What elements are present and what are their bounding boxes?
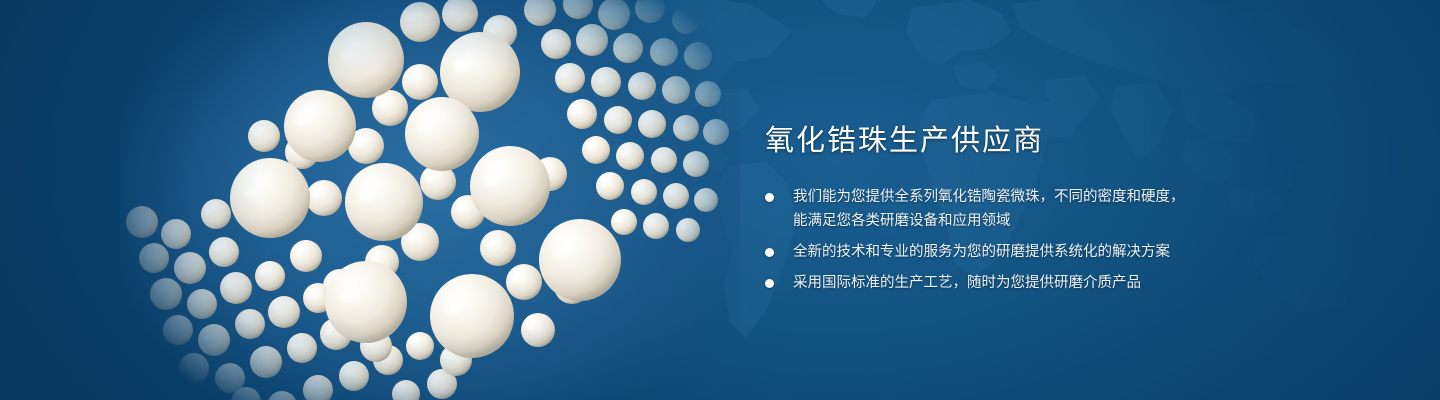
- bullet-dot-icon: [765, 193, 774, 202]
- list-item: 我们能为您提供全系列氧化锆陶瓷微珠，不同的密度和硬度， 能满足您各类研磨设备和应…: [765, 185, 1405, 233]
- feature-list: 我们能为您提供全系列氧化锆陶瓷微珠，不同的密度和硬度， 能满足您各类研磨设备和应…: [765, 185, 1405, 295]
- banner-copy: 氧化锆珠生产供应商 我们能为您提供全系列氧化锆陶瓷微珠，不同的密度和硬度， 能满…: [765, 104, 1405, 302]
- list-item-line-1: 全新的技术和专业的服务为您的研磨提供系统化的解决方案: [793, 244, 1170, 260]
- list-item: 全新的技术和专业的服务为您的研磨提供系统化的解决方案: [765, 240, 1405, 264]
- zirconia-beads-photo: [120, 0, 740, 400]
- bullet-dot-icon: [765, 248, 774, 257]
- bullet-dot-icon: [765, 279, 774, 288]
- list-item: 采用国际标准的生产工艺，随时为您提供研磨介质产品: [765, 271, 1405, 295]
- page-title: 氧化锆珠生产供应商: [765, 123, 1405, 159]
- list-item-line-2: 能满足您各类研磨设备和应用领域: [793, 209, 1405, 233]
- list-item-line-1: 我们能为您提供全系列氧化锆陶瓷微珠，不同的密度和硬度，: [793, 189, 1185, 205]
- list-item-line-1: 采用国际标准的生产工艺，随时为您提供研磨介质产品: [793, 275, 1141, 291]
- hero-banner: 氧化锆珠生产供应商 我们能为您提供全系列氧化锆陶瓷微珠，不同的密度和硬度， 能满…: [0, 0, 1440, 400]
